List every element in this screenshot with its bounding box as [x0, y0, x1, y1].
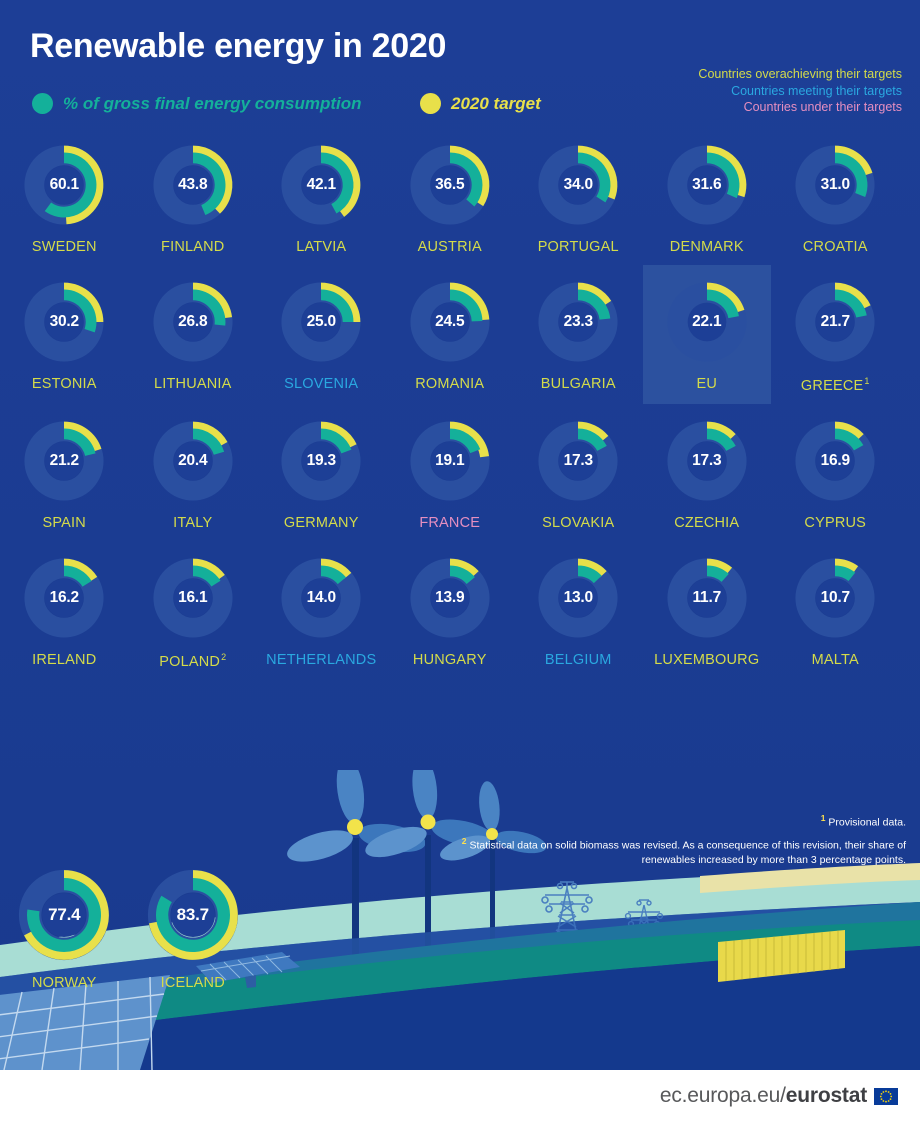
donut-chart: 10.7	[792, 555, 878, 641]
country-row-2: 30.2ESTONIA26.8LITHUANIA25.0SLOVENIA24.5…	[0, 265, 920, 404]
donut-chart: 16.1	[150, 555, 236, 641]
donut-chart: 14.0	[278, 555, 364, 641]
country-cell-hungary[interactable]: 13.9HUNGARY	[386, 541, 515, 680]
donut-chart: 42.1	[278, 142, 364, 228]
donut-hole	[171, 893, 215, 937]
footnote-1-text: Provisional data.	[828, 817, 906, 829]
country-name-label: ITALY	[173, 515, 212, 531]
donut-chart: 11.7	[664, 555, 750, 641]
donut-hole	[816, 578, 855, 617]
donut-chart: 22.1	[664, 279, 750, 365]
donut-hole	[173, 578, 212, 617]
donut-chart: 16.9	[792, 418, 878, 504]
donut-hole	[687, 578, 726, 617]
donut-hole	[302, 303, 341, 342]
content-panel: Renewable energy in 2020 % of gross fina…	[0, 0, 920, 1070]
donut-hole	[42, 893, 86, 937]
country-cell-finland[interactable]: 43.8FINLAND	[129, 128, 258, 265]
donut-hole	[816, 303, 855, 342]
donut-hole	[430, 441, 469, 480]
footer: ec.europa.eu/eurostat	[0, 1070, 920, 1122]
donut-hole	[302, 166, 341, 205]
donut-chart: 31.6	[664, 142, 750, 228]
country-cell-france[interactable]: 19.1FRANCE	[386, 404, 515, 541]
country-name-label: ESTONIA	[32, 376, 97, 392]
country-name-label: MALTA	[812, 652, 859, 668]
donut-chart: 77.4	[15, 866, 113, 964]
donut-hole	[302, 441, 341, 480]
country-cell-eu[interactable]: 22.1EU	[643, 265, 772, 404]
country-cell-iceland[interactable]: 83.7ICELAND	[129, 866, 258, 1001]
country-cell-latvia[interactable]: 42.1LATVIA	[257, 128, 386, 265]
legend-dot-target-icon	[420, 93, 441, 114]
footnote-2: 2 Statistical data on solid biomass was …	[446, 835, 906, 869]
country-name-label: LUXEMBOURG	[654, 652, 759, 668]
country-name-label: NORWAY	[32, 975, 97, 991]
footnote-2-text: Statistical data on solid biomass was re…	[469, 839, 906, 866]
country-row-3: 21.2SPAIN20.4ITALY19.3GERMANY19.1FRANCE1…	[0, 404, 920, 541]
donut-hole	[816, 441, 855, 480]
country-cell-portugal[interactable]: 34.0PORTUGAL	[514, 128, 643, 265]
donut-hole	[173, 303, 212, 342]
country-name-label: GREECE1	[801, 376, 870, 394]
donut-chart: 16.2	[21, 555, 107, 641]
country-name-label: SPAIN	[43, 515, 86, 531]
donut-hole	[559, 166, 598, 205]
eu-flag-svg	[874, 1088, 898, 1105]
donut-chart: 26.8	[150, 279, 236, 365]
country-grid: 60.1SWEDEN43.8FINLAND42.1LATVIA36.5AUSTR…	[0, 128, 920, 680]
country-cell-sweden[interactable]: 60.1SWEDEN	[0, 128, 129, 265]
country-name-label: LITHUANIA	[154, 376, 232, 392]
donut-hole	[45, 578, 84, 617]
donut-hole	[687, 303, 726, 342]
country-name-label: EU	[696, 376, 717, 392]
country-name-label: HUNGARY	[413, 652, 487, 668]
header: Renewable energy in 2020 % of gross fina…	[0, 0, 920, 135]
url-bold: eurostat	[786, 1084, 867, 1107]
footnote-1: 1 Provisional data.	[446, 812, 906, 831]
donut-hole	[559, 441, 598, 480]
donut-value-arc	[835, 571, 852, 577]
legend-label-actual: % of gross final energy consumption	[63, 94, 361, 114]
donut-chart: 83.7	[144, 866, 242, 964]
footnotes: 1 Provisional data. 2 Statistical data o…	[446, 812, 906, 873]
status-key-list: Countries overachieving their targets Co…	[698, 66, 902, 116]
donut-hole	[559, 578, 598, 617]
status-key-meeting: Countries meeting their targets	[698, 83, 902, 100]
country-name-label: LATVIA	[296, 239, 346, 255]
donut-chart: 30.2	[21, 279, 107, 365]
country-name-label: SLOVENIA	[284, 376, 358, 392]
country-cell-norway[interactable]: 77.4NORWAY	[0, 866, 129, 1001]
country-cell-estonia[interactable]: 30.2ESTONIA	[0, 265, 129, 404]
country-name-label: DENMARK	[670, 239, 744, 255]
donut-chart: 34.0	[535, 142, 621, 228]
donut-hole	[173, 166, 212, 205]
donut-hole	[430, 166, 469, 205]
country-row-4: 16.2IRELAND16.1POLAND214.0NETHERLANDS13.…	[0, 541, 920, 680]
footnote-1-marker: 1	[821, 813, 826, 823]
donut-hole	[687, 441, 726, 480]
country-cell-romania[interactable]: 24.5ROMANIA	[386, 265, 515, 404]
eu-flag-icon	[874, 1088, 898, 1105]
donut-hole	[430, 303, 469, 342]
donut-hole	[430, 578, 469, 617]
donut-chart: 21.7	[792, 279, 878, 365]
footnote-2-marker: 2	[462, 836, 467, 846]
country-cell-slovakia[interactable]: 17.3SLOVAKIA	[514, 404, 643, 541]
donut-chart: 19.1	[407, 418, 493, 504]
donut-chart: 24.5	[407, 279, 493, 365]
donut-chart: 60.1	[21, 142, 107, 228]
country-name-label: IRELAND	[32, 652, 96, 668]
country-cell-bulgaria[interactable]: 23.3BULGARIA	[514, 265, 643, 404]
donut-hole	[816, 166, 855, 205]
country-cell-ireland[interactable]: 16.2IRELAND	[0, 541, 129, 680]
country-cell-poland[interactable]: 16.1POLAND2	[129, 541, 258, 680]
legend-dot-actual-icon	[32, 93, 53, 114]
donut-chart: 43.8	[150, 142, 236, 228]
donut-hole	[687, 166, 726, 205]
country-name-label: ROMANIA	[415, 376, 484, 392]
infographic-page: Renewable energy in 2020 % of gross fina…	[0, 0, 920, 1122]
donut-chart: 20.4	[150, 418, 236, 504]
country-note-marker: 2	[221, 652, 226, 662]
country-name-label: PORTUGAL	[538, 239, 619, 255]
country-grid-extra: 77.4NORWAY83.7ICELAND	[0, 866, 920, 1001]
country-name-label: POLAND2	[159, 652, 226, 670]
donut-chart: 31.0	[792, 142, 878, 228]
page-title: Renewable energy in 2020	[30, 27, 446, 66]
donut-chart: 17.3	[664, 418, 750, 504]
country-name-label: AUSTRIA	[418, 239, 482, 255]
country-name-label: GERMANY	[284, 515, 359, 531]
status-key-under: Countries under their targets	[698, 99, 902, 116]
donut-hole	[45, 303, 84, 342]
country-cell-malta[interactable]: 10.7MALTA	[771, 541, 900, 680]
status-key-over: Countries overachieving their targets	[698, 66, 902, 83]
donut-hole	[45, 166, 84, 205]
donut-chart: 19.3	[278, 418, 364, 504]
legend-item-target: 2020 target	[420, 93, 541, 114]
donut-hole	[559, 303, 598, 342]
donut-chart: 21.2	[21, 418, 107, 504]
donut-chart: 23.3	[535, 279, 621, 365]
country-name-label: SWEDEN	[32, 239, 97, 255]
donut-chart: 17.3	[535, 418, 621, 504]
country-cell-italy[interactable]: 20.4ITALY	[129, 404, 258, 541]
country-name-label: FRANCE	[419, 515, 480, 531]
donut-hole	[173, 441, 212, 480]
country-name-label: BULGARIA	[541, 376, 616, 392]
donut-chart: 36.5	[407, 142, 493, 228]
country-name-label: ICELAND	[161, 975, 225, 991]
donut-chart: 25.0	[278, 279, 364, 365]
country-name-label: BELGIUM	[545, 652, 612, 668]
url-prefix: ec.europa.eu/	[660, 1084, 786, 1107]
country-name-label: CZECHIA	[674, 515, 739, 531]
country-cell-czechia[interactable]: 17.3CZECHIA	[643, 404, 772, 541]
country-cell-denmark[interactable]: 31.6DENMARK	[643, 128, 772, 265]
country-cell-germany[interactable]: 19.3GERMANY	[257, 404, 386, 541]
country-cell-lithuania[interactable]: 26.8LITHUANIA	[129, 265, 258, 404]
country-name-label: NETHERLANDS	[266, 652, 376, 668]
country-cell-luxembourg[interactable]: 11.7LUXEMBOURG	[643, 541, 772, 680]
legend-item-actual: % of gross final energy consumption	[32, 93, 361, 114]
country-row-1: 60.1SWEDEN43.8FINLAND42.1LATVIA36.5AUSTR…	[0, 128, 920, 265]
country-cell-netherlands[interactable]: 14.0NETHERLANDS	[257, 541, 386, 680]
country-name-label: SLOVAKIA	[542, 515, 614, 531]
donut-chart: 13.9	[407, 555, 493, 641]
country-name-label: CROATIA	[803, 239, 868, 255]
country-cell-cyprus[interactable]: 16.9CYPRUS	[771, 404, 900, 541]
country-cell-austria[interactable]: 36.5AUSTRIA	[386, 128, 515, 265]
eurostat-url[interactable]: ec.europa.eu/eurostat	[660, 1084, 867, 1108]
country-cell-slovenia[interactable]: 25.0SLOVENIA	[257, 265, 386, 404]
legend-label-target: 2020 target	[451, 94, 541, 114]
donut-hole	[45, 441, 84, 480]
country-cell-croatia[interactable]: 31.0CROATIA	[771, 128, 900, 265]
country-cell-greece[interactable]: 21.7GREECE1	[771, 265, 900, 404]
country-cell-spain[interactable]: 21.2SPAIN	[0, 404, 129, 541]
country-note-marker: 1	[864, 376, 869, 386]
country-name-label: FINLAND	[161, 239, 224, 255]
country-name-label: CYPRUS	[804, 515, 866, 531]
donut-chart: 13.0	[535, 555, 621, 641]
country-cell-belgium[interactable]: 13.0BELGIUM	[514, 541, 643, 680]
donut-hole	[302, 578, 341, 617]
